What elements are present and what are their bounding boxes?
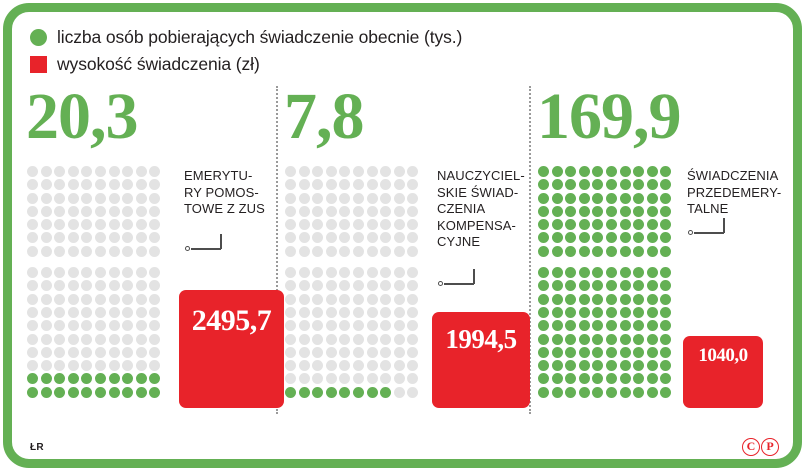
dot-filled xyxy=(592,267,603,278)
dot-empty xyxy=(312,246,323,257)
dot-empty xyxy=(326,179,337,190)
dot-filled xyxy=(620,360,631,371)
logo-c-icon: C xyxy=(742,438,760,456)
dot-empty xyxy=(68,219,79,230)
dot-row xyxy=(285,267,425,280)
dot-empty xyxy=(299,166,310,177)
panel-emerytury-pomostowe: 20,3 EMERYTU- RY POMOS- TOWE Z ZUS 2495,… xyxy=(26,84,274,414)
dot-empty xyxy=(407,179,418,190)
dot-empty xyxy=(27,179,38,190)
dot-empty xyxy=(136,294,147,305)
dot-filled xyxy=(552,206,563,217)
dot-filled xyxy=(620,246,631,257)
dot-empty xyxy=(339,267,350,278)
dot-filled xyxy=(620,280,631,291)
dot-empty xyxy=(68,206,79,217)
dot-empty xyxy=(27,232,38,243)
dot-filled xyxy=(565,166,576,177)
dot-row xyxy=(27,179,167,192)
leader-horizontal-line xyxy=(444,283,474,285)
dot-empty xyxy=(136,267,147,278)
dot-empty xyxy=(54,334,65,345)
dot-empty xyxy=(326,246,337,257)
dot-filled xyxy=(620,267,631,278)
dot-filled xyxy=(606,307,617,318)
dot-empty xyxy=(326,294,337,305)
dot-filled xyxy=(592,193,603,204)
dot-empty xyxy=(394,373,405,384)
dot-filled xyxy=(109,373,120,384)
dot-filled xyxy=(660,219,671,230)
dot-filled xyxy=(633,307,644,318)
dot-filled xyxy=(606,387,617,398)
dot-row xyxy=(285,246,425,259)
dot-empty xyxy=(367,294,378,305)
dot-filled xyxy=(606,280,617,291)
dot-empty xyxy=(136,307,147,318)
dot-empty xyxy=(27,193,38,204)
dot-empty xyxy=(299,347,310,358)
dot-empty xyxy=(407,360,418,371)
dot-filled xyxy=(565,246,576,257)
dot-empty xyxy=(68,166,79,177)
dot-empty xyxy=(380,280,391,291)
dot-filled xyxy=(592,219,603,230)
dot-empty xyxy=(27,320,38,331)
dot-empty xyxy=(149,347,160,358)
dot-filled xyxy=(579,267,590,278)
dot-empty xyxy=(326,334,337,345)
dot-empty xyxy=(353,206,364,217)
dot-empty xyxy=(149,267,160,278)
dot-empty xyxy=(54,206,65,217)
dot-filled xyxy=(312,387,323,398)
dot-empty xyxy=(109,267,120,278)
dot-filled xyxy=(647,219,658,230)
dot-empty xyxy=(54,193,65,204)
dot-empty xyxy=(339,334,350,345)
dot-filled xyxy=(606,219,617,230)
dot-row xyxy=(285,206,425,219)
leader-dot-icon xyxy=(688,230,693,235)
dot-empty xyxy=(27,307,38,318)
dot-empty xyxy=(285,280,296,291)
dot-empty xyxy=(136,179,147,190)
dot-empty xyxy=(95,347,106,358)
dot-row xyxy=(538,206,678,219)
dot-empty xyxy=(81,334,92,345)
dot-empty xyxy=(41,219,52,230)
dot-empty xyxy=(367,206,378,217)
dot-empty xyxy=(68,294,79,305)
dot-empty xyxy=(312,360,323,371)
dot-row xyxy=(538,294,678,307)
dot-filled xyxy=(122,373,133,384)
dot-row xyxy=(27,360,167,373)
dot-empty xyxy=(353,166,364,177)
dot-empty xyxy=(326,206,337,217)
dot-filled xyxy=(552,294,563,305)
dot-empty xyxy=(95,246,106,257)
dot-filled xyxy=(579,294,590,305)
dot-empty xyxy=(299,373,310,384)
dot-row xyxy=(27,206,167,219)
dot-empty xyxy=(394,267,405,278)
dot-empty xyxy=(380,360,391,371)
dot-filled xyxy=(647,206,658,217)
dot-row xyxy=(285,179,425,192)
legend-label-amount: wysokość świadczenia (zł) xyxy=(57,54,260,75)
dot-empty xyxy=(68,307,79,318)
dot-empty xyxy=(353,347,364,358)
dot-empty xyxy=(285,373,296,384)
author-credit: ŁR xyxy=(30,442,44,453)
dot-filled xyxy=(136,373,147,384)
red-square-marker-icon xyxy=(30,56,47,73)
dot-filled xyxy=(579,373,590,384)
dot-filled xyxy=(647,294,658,305)
dot-empty xyxy=(353,219,364,230)
dot-empty xyxy=(27,360,38,371)
dot-filled xyxy=(660,387,671,398)
dot-row xyxy=(538,232,678,245)
dot-filled xyxy=(633,206,644,217)
dot-row xyxy=(538,334,678,347)
dot-filled xyxy=(633,320,644,331)
dot-empty xyxy=(54,246,65,257)
dot-empty xyxy=(367,166,378,177)
dot-empty xyxy=(27,280,38,291)
dot-empty xyxy=(299,320,310,331)
dot-empty xyxy=(27,206,38,217)
dot-filled xyxy=(136,387,147,398)
dot-filled xyxy=(68,373,79,384)
dot-empty xyxy=(68,320,79,331)
dot-filled xyxy=(660,166,671,177)
leader-vertical-line xyxy=(723,218,725,233)
dot-empty xyxy=(149,307,160,318)
dot-empty xyxy=(41,347,52,358)
dot-empty xyxy=(149,232,160,243)
dot-filled xyxy=(606,246,617,257)
dot-filled xyxy=(579,166,590,177)
dot-empty xyxy=(136,334,147,345)
dot-empty xyxy=(394,219,405,230)
dot-filled xyxy=(647,373,658,384)
dot-empty xyxy=(109,179,120,190)
dot-empty xyxy=(95,267,106,278)
dot-empty xyxy=(407,334,418,345)
panel-1-dot-matrix xyxy=(27,166,167,400)
legend-item-people: liczba osób pobierających świadczenie ob… xyxy=(30,24,462,51)
dot-empty xyxy=(109,193,120,204)
dot-filled xyxy=(620,193,631,204)
dot-empty xyxy=(136,347,147,358)
dot-filled xyxy=(620,206,631,217)
dot-empty xyxy=(149,219,160,230)
dot-empty xyxy=(353,267,364,278)
dot-empty xyxy=(380,219,391,230)
dot-empty xyxy=(299,334,310,345)
dot-empty xyxy=(68,232,79,243)
dot-empty xyxy=(27,166,38,177)
dot-empty xyxy=(136,280,147,291)
dot-empty xyxy=(326,360,337,371)
dot-empty xyxy=(68,246,79,257)
dot-row xyxy=(285,347,425,360)
dot-filled xyxy=(647,179,658,190)
dot-empty xyxy=(353,373,364,384)
dot-filled xyxy=(606,320,617,331)
dot-empty xyxy=(407,246,418,257)
panel-nauczycielskie-swiadczenia: 7,8 NAUCZYCIEL- SKIE ŚWIAD- CZENIA KOMPE… xyxy=(284,84,527,414)
dot-filled xyxy=(647,334,658,345)
dot-empty xyxy=(122,320,133,331)
dot-empty xyxy=(136,360,147,371)
dot-empty xyxy=(394,294,405,305)
dot-empty xyxy=(312,219,323,230)
dot-empty xyxy=(122,166,133,177)
dot-row xyxy=(27,387,167,400)
dot-filled xyxy=(565,219,576,230)
logo-p-icon: P xyxy=(761,438,779,456)
dot-empty xyxy=(394,166,405,177)
dot-empty xyxy=(27,267,38,278)
dot-row xyxy=(538,193,678,206)
dot-filled xyxy=(565,320,576,331)
dot-empty xyxy=(81,307,92,318)
dot-empty xyxy=(95,294,106,305)
dot-empty xyxy=(380,307,391,318)
dot-empty xyxy=(122,294,133,305)
dot-filled xyxy=(565,232,576,243)
legend: liczba osób pobierających świadczenie ob… xyxy=(30,24,462,78)
dot-filled xyxy=(538,280,549,291)
dot-empty xyxy=(367,232,378,243)
dot-empty xyxy=(54,166,65,177)
dot-empty xyxy=(353,320,364,331)
dot-empty xyxy=(367,360,378,371)
panel-1-big-number: 20,3 xyxy=(26,84,138,150)
dot-filled xyxy=(606,232,617,243)
dot-row xyxy=(285,193,425,206)
dot-empty xyxy=(285,307,296,318)
dot-empty xyxy=(285,347,296,358)
dot-filled xyxy=(565,373,576,384)
dot-empty xyxy=(95,360,106,371)
dot-filled xyxy=(660,320,671,331)
dot-filled xyxy=(579,246,590,257)
dot-filled xyxy=(633,280,644,291)
dot-empty xyxy=(367,320,378,331)
dot-empty xyxy=(109,206,120,217)
dot-row xyxy=(285,360,425,373)
dot-filled xyxy=(647,267,658,278)
dot-empty xyxy=(95,179,106,190)
dot-empty xyxy=(122,280,133,291)
panel-2-dot-matrix xyxy=(285,166,425,400)
dot-empty xyxy=(122,206,133,217)
dot-empty xyxy=(54,179,65,190)
dot-filled xyxy=(660,232,671,243)
dot-empty xyxy=(299,307,310,318)
dot-empty xyxy=(394,246,405,257)
panels-container: 20,3 EMERYTU- RY POMOS- TOWE Z ZUS 2495,… xyxy=(12,84,793,414)
dot-empty xyxy=(339,373,350,384)
dot-filled xyxy=(27,373,38,384)
dot-empty xyxy=(68,347,79,358)
dot-filled xyxy=(592,347,603,358)
dot-empty xyxy=(285,193,296,204)
dot-empty xyxy=(95,307,106,318)
dot-filled xyxy=(565,179,576,190)
dot-filled xyxy=(552,334,563,345)
dot-empty xyxy=(109,320,120,331)
dot-empty xyxy=(41,334,52,345)
dot-empty xyxy=(109,280,120,291)
dot-empty xyxy=(122,232,133,243)
dot-filled xyxy=(538,219,549,230)
dot-filled xyxy=(647,320,658,331)
dot-filled xyxy=(565,206,576,217)
dot-empty xyxy=(136,246,147,257)
dot-empty xyxy=(109,232,120,243)
dot-empty xyxy=(136,206,147,217)
dot-empty xyxy=(394,347,405,358)
dot-filled xyxy=(606,166,617,177)
dot-filled xyxy=(633,360,644,371)
dot-filled xyxy=(620,232,631,243)
dot-filled xyxy=(633,294,644,305)
dot-empty xyxy=(380,193,391,204)
dot-filled xyxy=(54,373,65,384)
dot-filled xyxy=(579,280,590,291)
dot-empty xyxy=(81,267,92,278)
dot-filled xyxy=(660,360,671,371)
dot-filled xyxy=(353,387,364,398)
dot-empty xyxy=(95,280,106,291)
dot-empty xyxy=(122,347,133,358)
dot-filled xyxy=(122,387,133,398)
dot-filled xyxy=(552,360,563,371)
dot-row xyxy=(27,232,167,245)
dot-empty xyxy=(380,320,391,331)
dot-filled xyxy=(538,179,549,190)
dot-empty xyxy=(312,280,323,291)
dot-filled xyxy=(579,193,590,204)
dot-row xyxy=(285,334,425,347)
dot-empty xyxy=(149,246,160,257)
dot-filled xyxy=(592,280,603,291)
dot-filled xyxy=(660,373,671,384)
dot-filled xyxy=(660,307,671,318)
panel-2-value-box: 1994,5 xyxy=(432,312,530,408)
dot-row xyxy=(285,320,425,333)
dot-row xyxy=(27,219,167,232)
dot-empty xyxy=(326,232,337,243)
dot-filled xyxy=(538,347,549,358)
dot-empty xyxy=(380,347,391,358)
dot-filled xyxy=(538,232,549,243)
dot-filled xyxy=(647,347,658,358)
dot-empty xyxy=(312,373,323,384)
dot-filled xyxy=(660,280,671,291)
dot-empty xyxy=(312,206,323,217)
dot-empty xyxy=(149,179,160,190)
dot-empty xyxy=(27,334,38,345)
dot-empty xyxy=(68,193,79,204)
panel-2-label: NAUCZYCIEL- SKIE ŚWIAD- CZENIA KOMPENSA-… xyxy=(437,168,537,251)
dot-filled xyxy=(109,387,120,398)
dot-empty xyxy=(380,294,391,305)
dot-row xyxy=(27,373,167,386)
dot-filled xyxy=(620,179,631,190)
dot-filled xyxy=(149,387,160,398)
dot-filled xyxy=(606,373,617,384)
dot-empty xyxy=(54,307,65,318)
dot-filled xyxy=(565,334,576,345)
dot-row xyxy=(538,373,678,386)
dot-empty xyxy=(136,320,147,331)
dot-empty xyxy=(312,193,323,204)
dot-row xyxy=(285,219,425,232)
dot-empty xyxy=(81,294,92,305)
dot-row xyxy=(285,280,425,293)
dot-empty xyxy=(367,307,378,318)
dot-filled xyxy=(579,360,590,371)
dot-empty xyxy=(81,219,92,230)
dot-empty xyxy=(299,219,310,230)
dot-empty xyxy=(68,267,79,278)
dot-empty xyxy=(353,307,364,318)
dot-empty xyxy=(95,219,106,230)
dot-filled xyxy=(660,246,671,257)
dot-filled xyxy=(552,166,563,177)
dot-empty xyxy=(394,307,405,318)
dot-empty xyxy=(339,246,350,257)
dot-row xyxy=(27,166,167,179)
dot-filled xyxy=(647,232,658,243)
dot-empty xyxy=(68,360,79,371)
dot-row xyxy=(285,307,425,320)
dot-filled xyxy=(592,206,603,217)
dot-filled xyxy=(620,373,631,384)
dot-empty xyxy=(312,347,323,358)
dot-filled xyxy=(552,232,563,243)
dot-row xyxy=(538,267,678,280)
dot-empty xyxy=(353,179,364,190)
dot-row xyxy=(538,347,678,360)
dot-filled xyxy=(538,267,549,278)
panel-1-label: EMERYTU- RY POMOS- TOWE Z ZUS xyxy=(184,168,279,218)
dot-empty xyxy=(326,219,337,230)
dot-filled xyxy=(552,307,563,318)
dot-empty xyxy=(326,193,337,204)
dot-filled xyxy=(620,347,631,358)
dot-empty xyxy=(367,179,378,190)
dot-empty xyxy=(27,347,38,358)
dot-empty xyxy=(68,334,79,345)
dot-empty xyxy=(312,267,323,278)
dot-empty xyxy=(299,193,310,204)
dot-empty xyxy=(380,334,391,345)
dot-empty xyxy=(149,280,160,291)
panel-2-big-number: 7,8 xyxy=(284,84,364,150)
dot-empty xyxy=(299,280,310,291)
dot-filled xyxy=(552,387,563,398)
dot-row xyxy=(285,294,425,307)
dot-filled xyxy=(538,334,549,345)
